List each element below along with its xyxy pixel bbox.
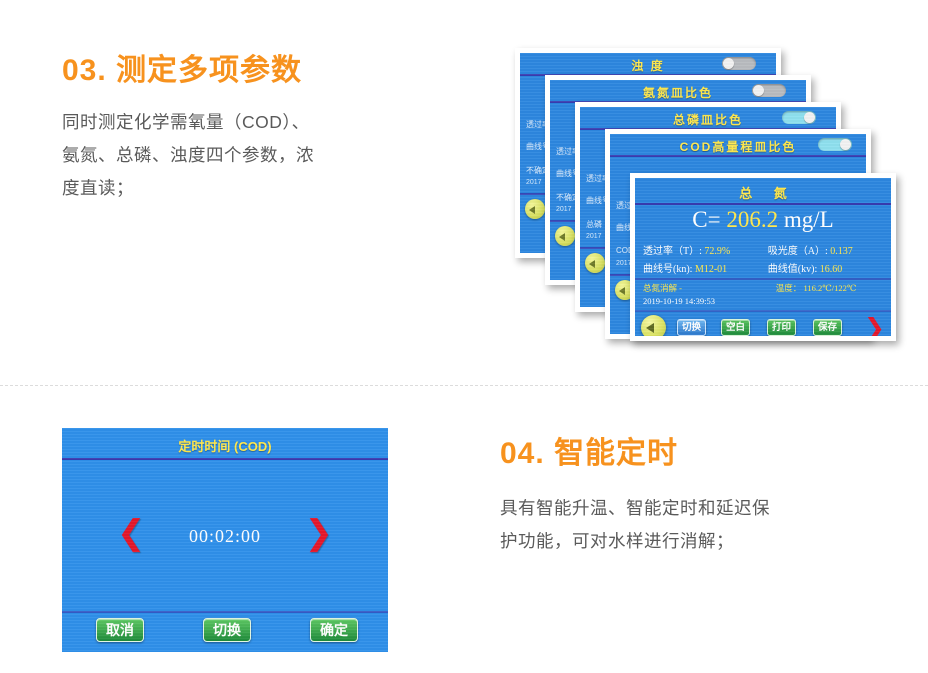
card-ammonia-nitrogen-back-icon[interactable]	[555, 226, 575, 246]
section-03-line-1: 同时测定化学需氧量（COD）、	[62, 106, 314, 139]
print-button[interactable]: 打印	[767, 319, 796, 336]
temperature-value: 116.2℃/122℃	[803, 283, 856, 293]
result-prefix: C=	[692, 207, 720, 232]
result-title: 总 氮	[635, 183, 891, 202]
result-divider	[635, 278, 891, 280]
timer-screen[interactable]: 定时时间 (COD) ❮ 00:02:00 ❯ 取消 切换 确定	[62, 428, 388, 652]
result-value: 206.2	[726, 207, 778, 232]
timer-value[interactable]: 00:02:00	[62, 526, 388, 547]
section-04: 04. 智能定时 具有智能升温、智能定时和延迟保 护功能，可对水样进行消解；	[500, 428, 770, 558]
section-04-line-2: 护功能，可对水样进行消解；	[500, 525, 770, 558]
timer-bottom-rule	[62, 611, 388, 613]
row-1-right: 吸光度（A）: 0.137	[768, 242, 853, 257]
row-2-left: 曲线号(kn): M12-01	[643, 260, 727, 275]
section-03-title: 测定多项参数	[116, 54, 302, 87]
status-temperature: 温度： 116.2℃/122℃	[776, 282, 857, 294]
row-1-left: 透过率（T）: 72.9%	[643, 242, 730, 257]
timer-title-rule	[62, 458, 388, 460]
screenshot-card-deck: 浊 度 透过率 曲线号 不确定 2017 氨氮皿比色 透过率 曲线号 不确定 2…	[505, 42, 895, 342]
card-cod-high-range-rule	[610, 155, 866, 157]
section-03-line-2: 氨氮、总磷、浊度四个参数，浓	[62, 139, 314, 172]
ghost-label-date: 2017	[526, 179, 542, 186]
section-03-number: 03.	[62, 54, 107, 87]
timer-title: 定时时间 (COD)	[62, 436, 388, 455]
save-button[interactable]: 保存	[813, 319, 842, 336]
section-04-title: 智能定时	[554, 437, 678, 470]
card-total-phosphorus-back-icon[interactable]	[585, 253, 605, 273]
result-button-bar: 切换 空白 打印 保存 ❯	[635, 314, 891, 336]
status-digestion: 总氮消解 -	[643, 282, 682, 294]
card-total-phosphorus-toggle[interactable]	[782, 111, 816, 124]
absorbance-value: 0.137	[830, 246, 853, 257]
confirm-button[interactable]: 确定	[310, 618, 358, 642]
toggle-knob	[753, 85, 764, 96]
section-04-heading: 04. 智能定时	[500, 428, 770, 472]
result-unit: mg/L	[784, 207, 834, 232]
result-title-rule	[635, 203, 891, 205]
switch-button[interactable]: 切换	[677, 319, 706, 336]
result-concentration: C= 206.2 mg/L	[635, 207, 891, 233]
card-total-nitrogen-screen: 总 氮 C= 206.2 mg/L 透过率（T）: 72.9% 吸光度（A）: …	[635, 178, 891, 336]
back-button-icon[interactable]	[641, 315, 666, 336]
toggle-knob	[804, 112, 815, 123]
card-cod-high-range-toggle[interactable]	[818, 138, 852, 151]
temperature-label: 温度：	[776, 283, 802, 293]
curve-number-label: 曲线号(kn):	[643, 264, 692, 275]
ghost-label-date: 2017	[556, 206, 572, 213]
absorbance-label: 吸光度（A）:	[768, 246, 828, 257]
chevron-right-icon[interactable]: ❯	[864, 315, 885, 336]
card-turbidity-toggle[interactable]	[722, 57, 756, 70]
curve-number-value: M12-01	[695, 264, 727, 275]
section-03: 03. 测定多项参数 同时测定化学需氧量（COD）、 氨氮、总磷、浊度四个参数，…	[62, 45, 314, 205]
curve-value-label: 曲线值(kv):	[768, 264, 817, 275]
curve-value-value: 16.60	[820, 264, 843, 275]
section-04-number: 04.	[500, 437, 545, 470]
row-2-right: 曲线值(kv): 16.60	[768, 260, 842, 275]
card-ammonia-nitrogen-toggle[interactable]	[752, 84, 786, 97]
ghost-label-date: 2017	[586, 233, 602, 240]
section-03-paragraph: 同时测定化学需氧量（COD）、 氨氮、总磷、浊度四个参数，浓 度直读；	[62, 106, 314, 205]
transmittance-value: 72.9%	[704, 246, 730, 257]
switch-button[interactable]: 切换	[203, 618, 251, 642]
result-timestamp: 2019-10-19 14:39:53	[643, 296, 715, 306]
button-bar-divider	[635, 310, 891, 312]
section-03-heading: 03. 测定多项参数	[62, 45, 314, 89]
blank-button[interactable]: 空白	[721, 319, 750, 336]
section-divider	[0, 385, 928, 387]
section-04-line-1: 具有智能升温、智能定时和延迟保	[500, 492, 770, 525]
section-03-line-3: 度直读；	[62, 172, 314, 205]
toggle-knob	[723, 58, 734, 69]
card-turbidity-back-icon[interactable]	[525, 199, 545, 219]
increment-arrow-icon[interactable]: ❯	[305, 516, 334, 550]
card-total-nitrogen-result[interactable]: 总 氮 C= 206.2 mg/L 透过率（T）: 72.9% 吸光度（A）: …	[630, 173, 896, 341]
section-04-paragraph: 具有智能升温、智能定时和延迟保 护功能，可对水样进行消解；	[500, 492, 770, 558]
ghost-label-total-phosphorus: 总磷	[586, 219, 602, 230]
toggle-knob	[840, 139, 851, 150]
cancel-button[interactable]: 取消	[96, 618, 144, 642]
transmittance-label: 透过率（T）:	[643, 246, 702, 257]
